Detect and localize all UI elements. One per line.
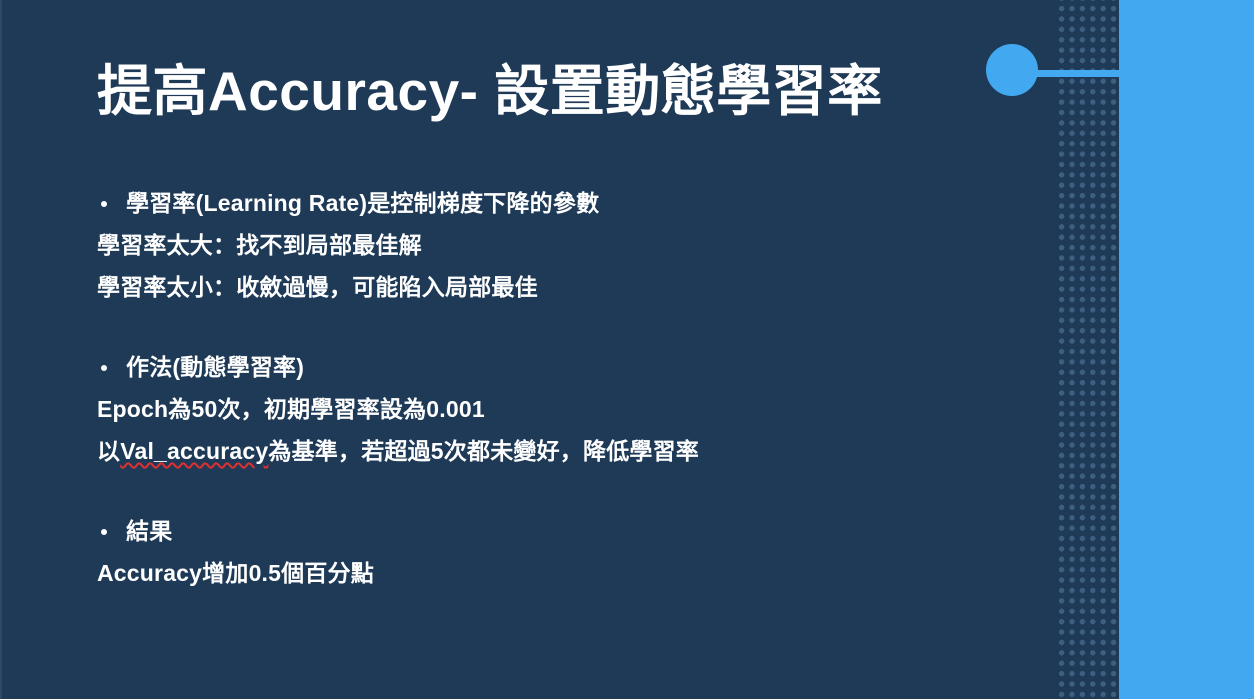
accent-blue-panel xyxy=(1119,0,1254,699)
line-text: 學習率太小：收斂過慢，可能陷入局部最佳 xyxy=(97,274,538,300)
body-line: Accuracy增加0.5個百分點 xyxy=(97,552,997,594)
page-title: 提高Accuracy- 設置動態學習率 xyxy=(97,60,957,123)
bullet-dot-icon xyxy=(101,201,107,207)
bullet-line: 學習率(Learning Rate)是控制梯度下降的參數 xyxy=(97,182,997,224)
slide-body: 學習率(Learning Rate)是控制梯度下降的參數學習率太大：找不到局部最… xyxy=(97,182,997,594)
bullet-group: 作法(動態學習率)Epoch為50次，初期學習率設為0.001以Val_accu… xyxy=(97,346,997,472)
line-text: 以Val_accuracy為基準，若超過5次都未變好，降低學習率 xyxy=(97,438,699,464)
bullet-dot-icon xyxy=(101,529,107,535)
misspelled-word: Val_accuracy xyxy=(120,438,268,464)
body-line: 學習率太大：找不到局部最佳解 xyxy=(97,224,997,266)
bullet-line: 結果 xyxy=(97,510,997,552)
line-text: 作法(動態學習率) xyxy=(126,354,304,380)
accent-circle-icon xyxy=(986,44,1038,96)
line-text: 學習率太大：找不到局部最佳解 xyxy=(97,232,422,258)
line-text: Accuracy增加0.5個百分點 xyxy=(97,560,374,586)
bullet-group: 結果Accuracy增加0.5個百分點 xyxy=(97,510,997,594)
body-line: 以Val_accuracy為基準，若超過5次都未變好，降低學習率 xyxy=(97,430,997,472)
dot-grid-pattern-icon xyxy=(1057,0,1120,699)
slide-canvas: 提高Accuracy- 設置動態學習率 學習率(Learning Rate)是控… xyxy=(0,0,1254,699)
bullet-line: 作法(動態學習率) xyxy=(97,346,997,388)
line-text: 學習率(Learning Rate)是控制梯度下降的參數 xyxy=(126,190,599,216)
bullet-dot-icon xyxy=(101,365,107,371)
bullet-group: 學習率(Learning Rate)是控制梯度下降的參數學習率太大：找不到局部最… xyxy=(97,182,997,308)
line-text: 結果 xyxy=(126,518,172,544)
body-line: Epoch為50次，初期學習率設為0.001 xyxy=(97,388,997,430)
line-text: Epoch為50次，初期學習率設為0.001 xyxy=(97,396,485,422)
body-line: 學習率太小：收斂過慢，可能陷入局部最佳 xyxy=(97,266,997,308)
